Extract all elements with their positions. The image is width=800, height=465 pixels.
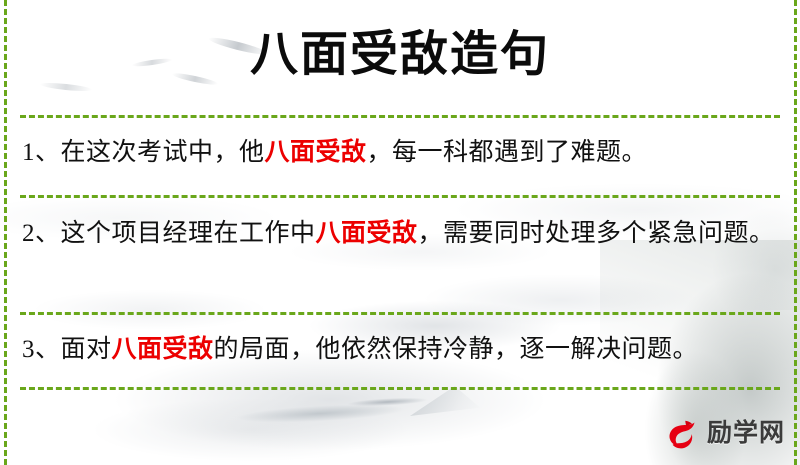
- sentence-text-part: ，需要同时处理多个紧急问题。: [418, 220, 775, 247]
- example-sentence-1: 1、在这次考试中，他八面受敌，每一科都遇到了难题。: [22, 133, 780, 173]
- sentence-text-part: 1、在这次考试中，他: [22, 139, 265, 166]
- brand-name: 励学网: [707, 419, 785, 449]
- red-swirl-flame-icon: [664, 416, 700, 452]
- sentence-text-part: 的局面，他依然保持冷静，逐一解决问题。: [214, 336, 699, 363]
- dashed-divider-3: [20, 312, 780, 315]
- sentence-text-part: ，每一科都遇到了难题。: [367, 139, 648, 166]
- highlighted-keyword: 八面受敌: [265, 139, 367, 166]
- example-sentence-2: 2、这个项目经理在工作中八面受敌，需要同时处理多个紧急问题。: [22, 214, 780, 254]
- dashed-divider-4: [20, 387, 780, 390]
- highlighted-keyword: 八面受敌: [112, 336, 214, 363]
- example-sentence-3: 3、面对八面受敌的局面，他依然保持冷静，逐一解决问题。: [22, 330, 780, 370]
- dashed-divider-2: [20, 195, 780, 198]
- ink-wash-boat: [199, 385, 461, 441]
- highlighted-keyword: 八面受敌: [316, 220, 418, 247]
- sentence-text-part: 2、这个项目经理在工作中: [22, 220, 316, 247]
- sentence-text-part: 3、面对: [22, 336, 112, 363]
- dashed-divider-1: [20, 115, 780, 118]
- document-page: 八面受敌造句 1、在这次考试中，他八面受敌，每一科都遇到了难题。 2、这个项目经…: [0, 0, 800, 465]
- page-title: 八面受敌造句: [0, 26, 800, 84]
- ink-wash-boat-sail: [410, 386, 480, 416]
- left-dashed-border: [4, 0, 7, 465]
- watermark-logo[interactable]: 励学网: [664, 416, 785, 452]
- right-dashed-border: [794, 0, 797, 465]
